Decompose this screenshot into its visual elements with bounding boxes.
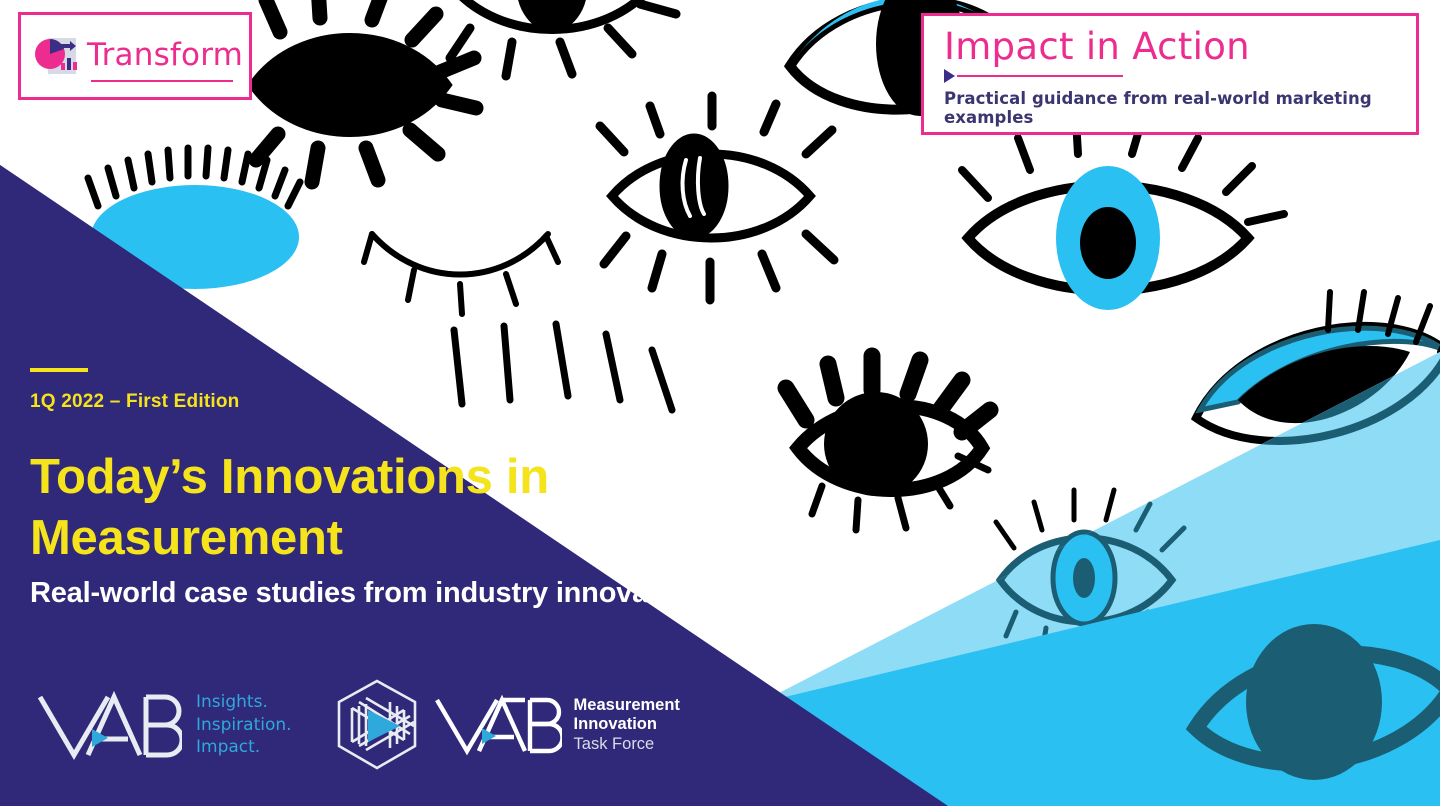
transform-badge[interactable]: Transform [18,12,252,100]
play-triangle-icon [944,69,955,83]
transform-label: Transform [87,40,243,73]
impact-rule-line [957,75,1123,77]
vab-primary-logo-group[interactable]: Insights. Inspiration. Impact. [34,689,292,761]
impact-subtitle: Practical guidance from real-world marke… [944,89,1400,127]
pie-chart-bar-arrow-icon [35,36,79,76]
edition-label: 1Q 2022 – First Edition [30,391,900,413]
page-title: Today’s Innovations in Measurement [30,447,650,569]
impact-in-action-box[interactable]: Impact in Action Practical guidance from… [921,13,1419,135]
hexagon-play-logo [328,676,426,774]
mitf-logo-group[interactable]: Measurement Innovation Task Force [328,676,680,774]
vab-tagline-line-3: Impact. [196,736,292,758]
mitf-tagline-line-1: Measurement [574,696,680,715]
vab-tagline: Insights. Inspiration. Impact. [196,691,292,758]
impact-title: Impact in Action [944,28,1400,67]
vab-wordmark-logo [34,689,182,761]
page-subtitle: Real-world case studies from industry in… [30,577,900,610]
cover-slide: Transform Impact in Action Practical gui… [0,0,1440,806]
mitf-tagline-line-2: Innovation [574,715,680,734]
vab-wordmark-logo-secondary [432,693,562,757]
impact-divider [944,69,1400,83]
title-block: 1Q 2022 – First Edition Today’s Innovati… [30,368,900,610]
vab-tagline-line-1: Insights. [196,691,292,713]
mitf-tagline-line-3: Task Force [574,735,680,754]
footer-logos: Insights. Inspiration. Impact. [34,676,680,774]
edition-rule [30,368,88,372]
mitf-tagline: Measurement Innovation Task Force [574,696,680,753]
vab-tagline-line-2: Inspiration. [196,714,292,736]
